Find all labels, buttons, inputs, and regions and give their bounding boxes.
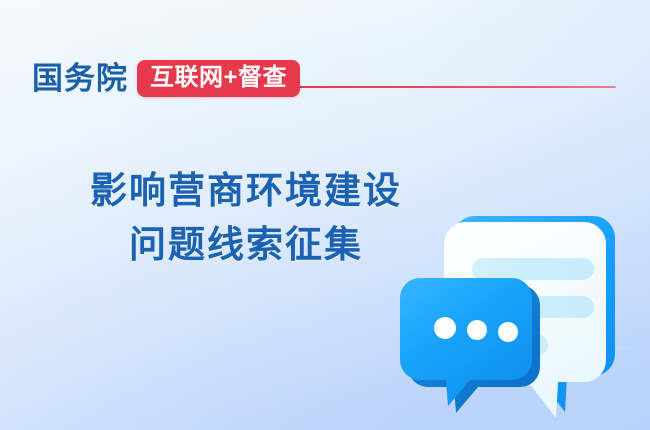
title-line-1: 影响营商环境建设 (56, 164, 436, 218)
header-divider-rule (298, 86, 616, 88)
title-line-2: 问题线索征集 (56, 218, 436, 272)
page-title: 影响营商环境建设 问题线索征集 (56, 164, 436, 271)
gov-label: 国务院 (32, 63, 128, 94)
banner-header: 国务院 互联网+督查 (0, 55, 650, 101)
program-badge: 互联网+督查 (137, 60, 300, 97)
banner-root: 国务院 互联网+督查 影响营商环境建设 问题线索征集 (0, 0, 650, 430)
front-chat-bubble (400, 278, 540, 413)
